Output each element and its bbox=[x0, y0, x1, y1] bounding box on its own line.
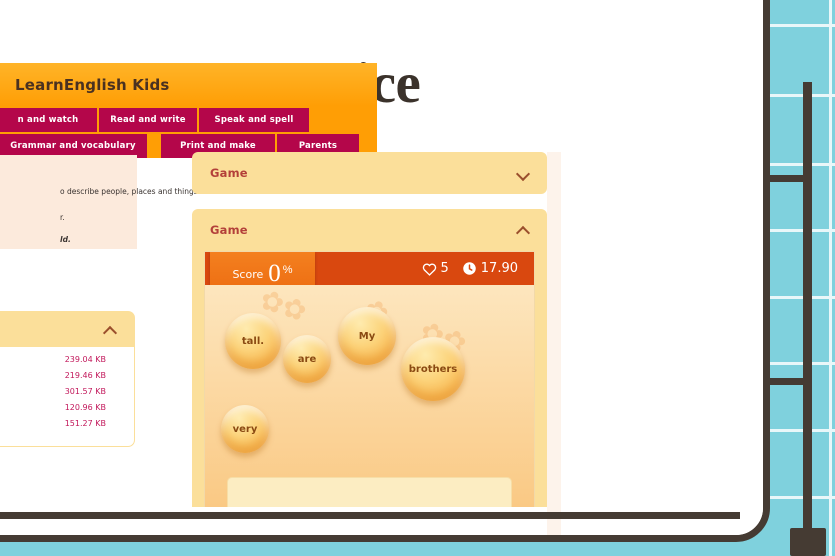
projected-webpage: Grammar practice LearnEnglish Kids n and… bbox=[7, 7, 770, 542]
description-line: r. bbox=[60, 213, 65, 222]
chevron-up-icon[interactable] bbox=[517, 223, 530, 236]
lives-stat: 5 bbox=[422, 261, 449, 276]
downloads-accordion-header[interactable] bbox=[0, 311, 135, 347]
description-card: o describe people, places and things. r.… bbox=[0, 155, 137, 249]
downloads-list: 239.04 KB 219.46 KB 301.57 KB 120.96 KB … bbox=[0, 347, 135, 447]
game-play-area[interactable]: ✿✿ ✿✿ ✿ tall. are My brothers very bbox=[205, 285, 534, 507]
word-bubble[interactable]: My bbox=[338, 307, 396, 365]
whiteboard-frame: Grammar practice LearnEnglish Kids n and… bbox=[0, 0, 770, 542]
heart-icon bbox=[422, 262, 437, 276]
word-bubble[interactable]: are bbox=[283, 335, 331, 383]
accordion-header[interactable]: Game bbox=[192, 209, 547, 251]
description-line: ld. bbox=[60, 235, 71, 244]
score-value: 0 bbox=[268, 261, 281, 286]
word-order-game[interactable]: 5 17.90 Score bbox=[204, 251, 535, 507]
chevron-down-icon[interactable] bbox=[517, 166, 530, 179]
file-size: 219.46 KB bbox=[0, 368, 134, 384]
timer-value: 17.90 bbox=[481, 261, 518, 276]
site-navigation[interactable]: n and watch Read and write Speak and spe… bbox=[0, 106, 377, 158]
accordion-header[interactable]: Game bbox=[192, 152, 547, 194]
word-bubble[interactable]: brothers bbox=[401, 337, 465, 401]
page-right-margin bbox=[547, 152, 561, 542]
timer-icon bbox=[462, 261, 477, 276]
site-logo: LearnEnglish Kids bbox=[15, 76, 170, 94]
word-bubble[interactable]: very bbox=[221, 405, 269, 453]
accordion-column: Game Game bbox=[192, 152, 547, 507]
score-percent-symbol: % bbox=[283, 264, 293, 276]
nav-item-speak-and-spell[interactable]: Speak and spell bbox=[199, 108, 309, 132]
whiteboard-bottom-rail bbox=[0, 512, 740, 519]
score-label: Score bbox=[232, 268, 263, 281]
accordion-title: Game bbox=[210, 166, 248, 180]
accordion-game-collapsed[interactable]: Game bbox=[192, 152, 547, 194]
learnenglish-kids-site: LearnEnglish Kids n and watch Read and w… bbox=[0, 63, 377, 158]
timer-stat: 17.90 bbox=[462, 261, 518, 276]
accordion-body: 5 17.90 Score bbox=[192, 251, 547, 507]
description-line: o describe people, places and things. bbox=[60, 187, 200, 196]
nav-item-read-and-write[interactable]: Read and write bbox=[99, 108, 197, 132]
file-size: 120.96 KB bbox=[0, 400, 134, 416]
chevron-up-icon[interactable] bbox=[104, 323, 117, 336]
lives-count: 5 bbox=[441, 261, 449, 276]
file-size: 151.27 KB bbox=[0, 416, 134, 432]
file-size: 239.04 KB bbox=[0, 352, 134, 368]
word-bubble[interactable]: tall. bbox=[225, 313, 281, 369]
accordion-title: Game bbox=[210, 223, 248, 237]
accordion-game-expanded[interactable]: Game 5 bbox=[192, 209, 547, 507]
file-size: 301.57 KB bbox=[0, 384, 134, 400]
board-stand-foot bbox=[790, 528, 826, 556]
nav-item-listen-and-watch[interactable]: n and watch bbox=[0, 108, 97, 132]
downloads-accordion[interactable]: 239.04 KB 219.46 KB 301.57 KB 120.96 KB … bbox=[0, 311, 135, 447]
site-header: LearnEnglish Kids bbox=[0, 63, 377, 106]
board-stand-pole bbox=[803, 82, 812, 534]
answer-drop-zone[interactable] bbox=[227, 477, 512, 507]
tile-grout-line-vertical bbox=[829, 0, 832, 556]
